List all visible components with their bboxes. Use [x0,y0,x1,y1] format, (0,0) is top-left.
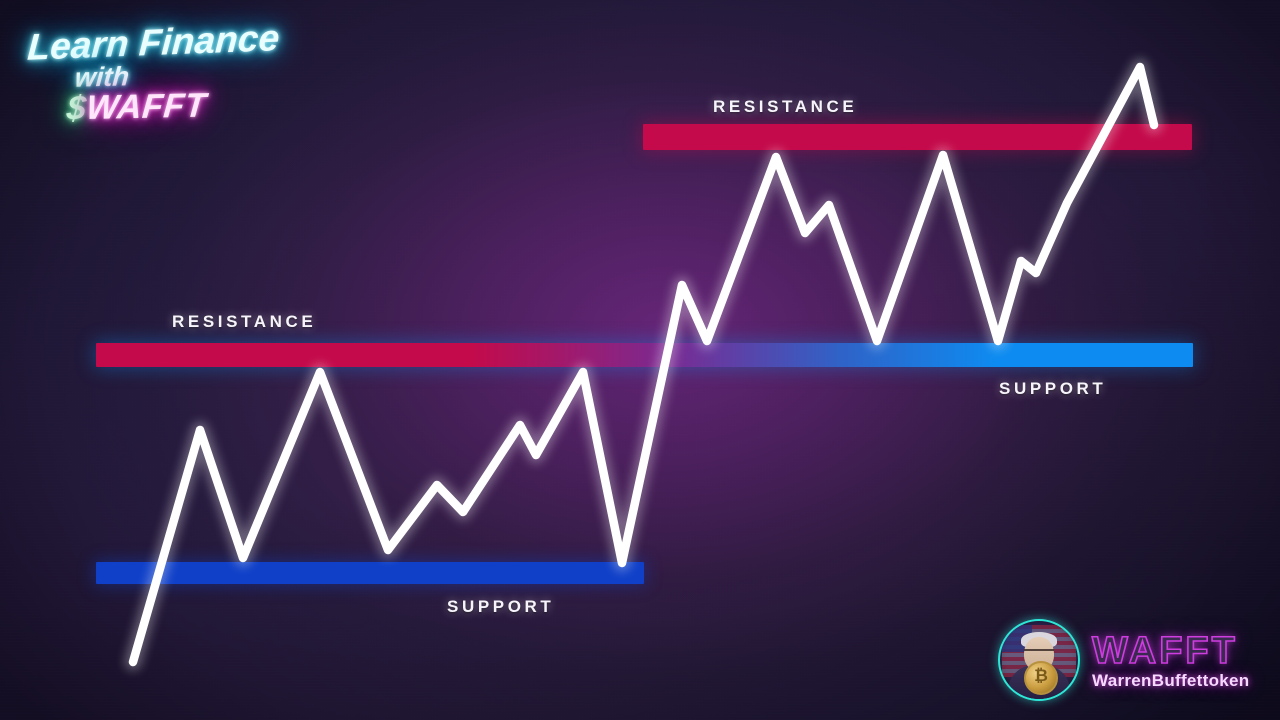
brand-line-1: Learn Finance [26,17,280,69]
watermark-subtitle: WarrenBuffettoken [1092,672,1249,689]
brand-ticker: WAFFT [85,87,208,127]
brand-logo: Learn Finance with $WAFFT [20,16,310,126]
chart-canvas: RESISTANCE RESISTANCE SUPPORT SUPPORT Le… [0,0,1280,720]
watermark-title: WAFFT [1092,632,1249,670]
glasses-icon [1024,649,1054,658]
price-line-stroke [133,67,1154,662]
watermark-badge: ₿ WAFFT WarrenBuffettoken [998,614,1266,706]
brand-ticker-line: $WAFFT [65,87,208,129]
price-line-glow [133,67,1154,662]
bitcoin-coin-icon: ₿ [1024,661,1058,695]
watermark-text: WAFFT WarrenBuffettoken [1092,632,1249,689]
avatar: ₿ [998,619,1080,701]
